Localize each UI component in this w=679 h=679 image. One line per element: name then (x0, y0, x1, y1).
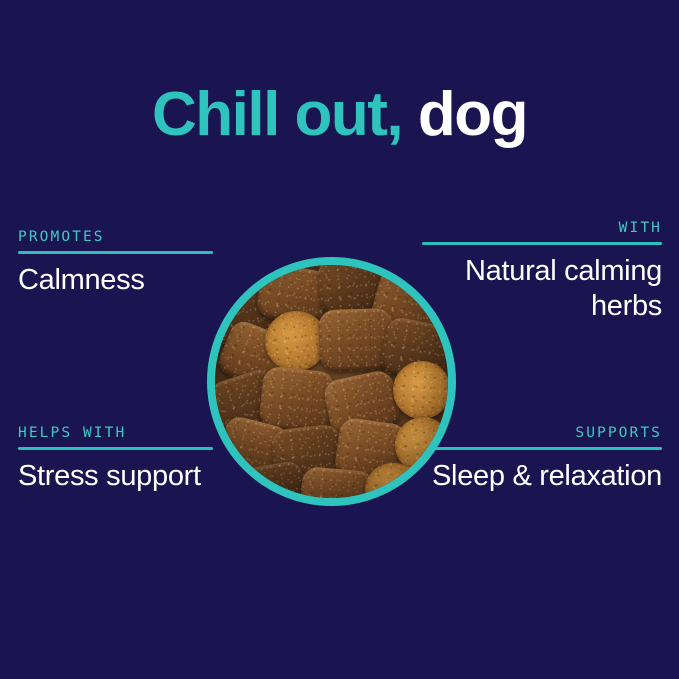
feature-sleep-relaxation: SUPPORTS Sleep & relaxation (422, 424, 662, 494)
dog-calming-chews-photo (215, 265, 448, 498)
feature-body: Sleep & relaxation (422, 459, 662, 494)
feature-body: Natural calming herbs (422, 254, 662, 324)
feature-divider (422, 447, 662, 450)
feature-divider (18, 251, 213, 254)
headline-accent: Chill out, (152, 80, 402, 149)
feature-body: Stress support (18, 459, 213, 494)
feature-calmness: PROMOTES Calmness (18, 228, 213, 298)
photo-vignette (215, 265, 448, 498)
headline-plain: dog (418, 80, 527, 149)
feature-divider (18, 447, 213, 450)
feature-divider (422, 242, 662, 245)
feature-eyebrow: SUPPORTS (422, 424, 662, 442)
feature-body: Calmness (18, 263, 213, 298)
feature-stress-support: HELPS WITH Stress support (18, 424, 213, 494)
product-infographic: Chill out, dog PROMOTES Calmness WITH Na… (0, 0, 679, 679)
page-title: Chill out, dog (0, 79, 679, 151)
feature-eyebrow: PROMOTES (18, 228, 213, 246)
feature-eyebrow: HELPS WITH (18, 424, 213, 442)
feature-natural-calming-herbs: WITH Natural calming herbs (422, 219, 662, 324)
feature-eyebrow: WITH (422, 219, 662, 237)
product-image-circle (207, 257, 456, 506)
